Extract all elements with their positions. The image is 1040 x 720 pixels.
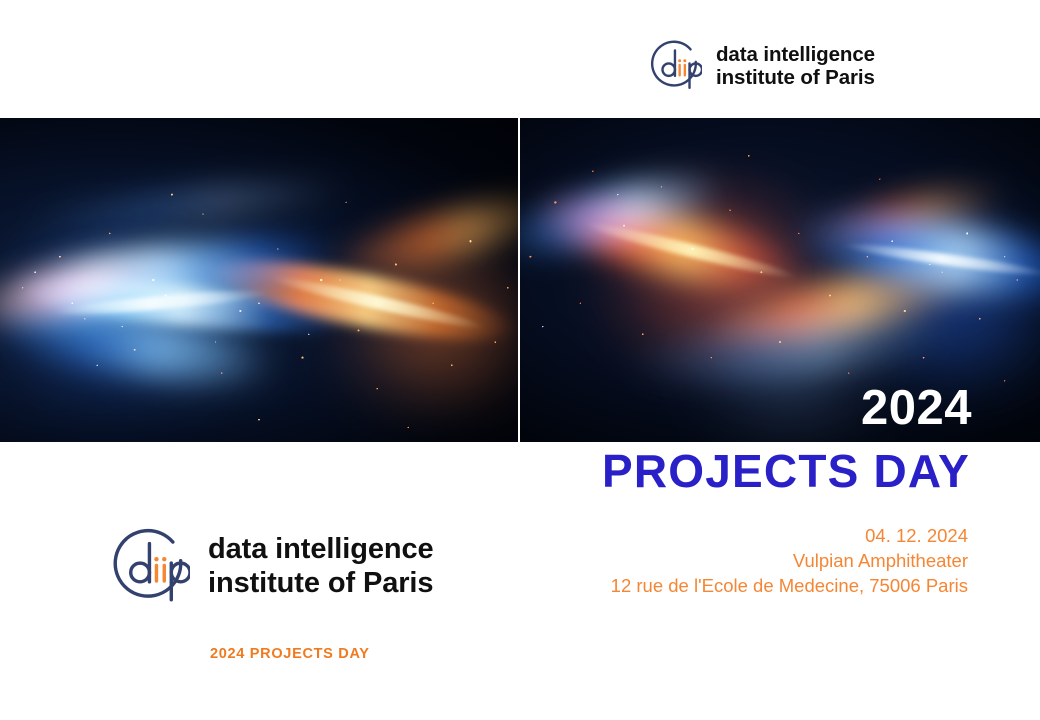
event-venue: Vulpian Amphitheater	[611, 549, 968, 574]
header-wordmark-line1: data intelligence	[716, 43, 875, 66]
header-wordmark-line2: institute of Paris	[716, 66, 875, 89]
page-title: PROJECTS DAY	[602, 447, 970, 495]
footer-tagline: 2024 PROJECTS DAY	[210, 646, 370, 662]
year-heading: 2024	[861, 384, 972, 433]
artwork-panel-left	[0, 118, 518, 442]
header-logo: data intelligence institute of Paris	[650, 40, 875, 92]
event-date: 04. 12. 2024	[611, 524, 968, 549]
diip-circular-logo-icon	[112, 528, 190, 606]
event-address: 12 rue de l'Ecole de Medecine, 75006 Par…	[611, 574, 968, 599]
poster-canvas: data intelligence institute of Paris	[0, 0, 1040, 720]
event-details: 04. 12. 2024 Vulpian Amphitheater 12 rue…	[611, 524, 968, 599]
artwork-left-composition	[0, 118, 518, 442]
footer-wordmark-line1: data intelligence	[208, 533, 434, 567]
footer-wordmark-line2: institute of Paris	[208, 567, 434, 601]
footer-logo: data intelligence institute of Paris	[112, 528, 434, 606]
diip-circular-logo-icon	[650, 40, 702, 92]
footer-logo-wordmark: data intelligence institute of Paris	[208, 533, 434, 600]
wisp-upper-left	[20, 172, 353, 239]
header-logo-wordmark: data intelligence institute of Paris	[716, 43, 875, 90]
